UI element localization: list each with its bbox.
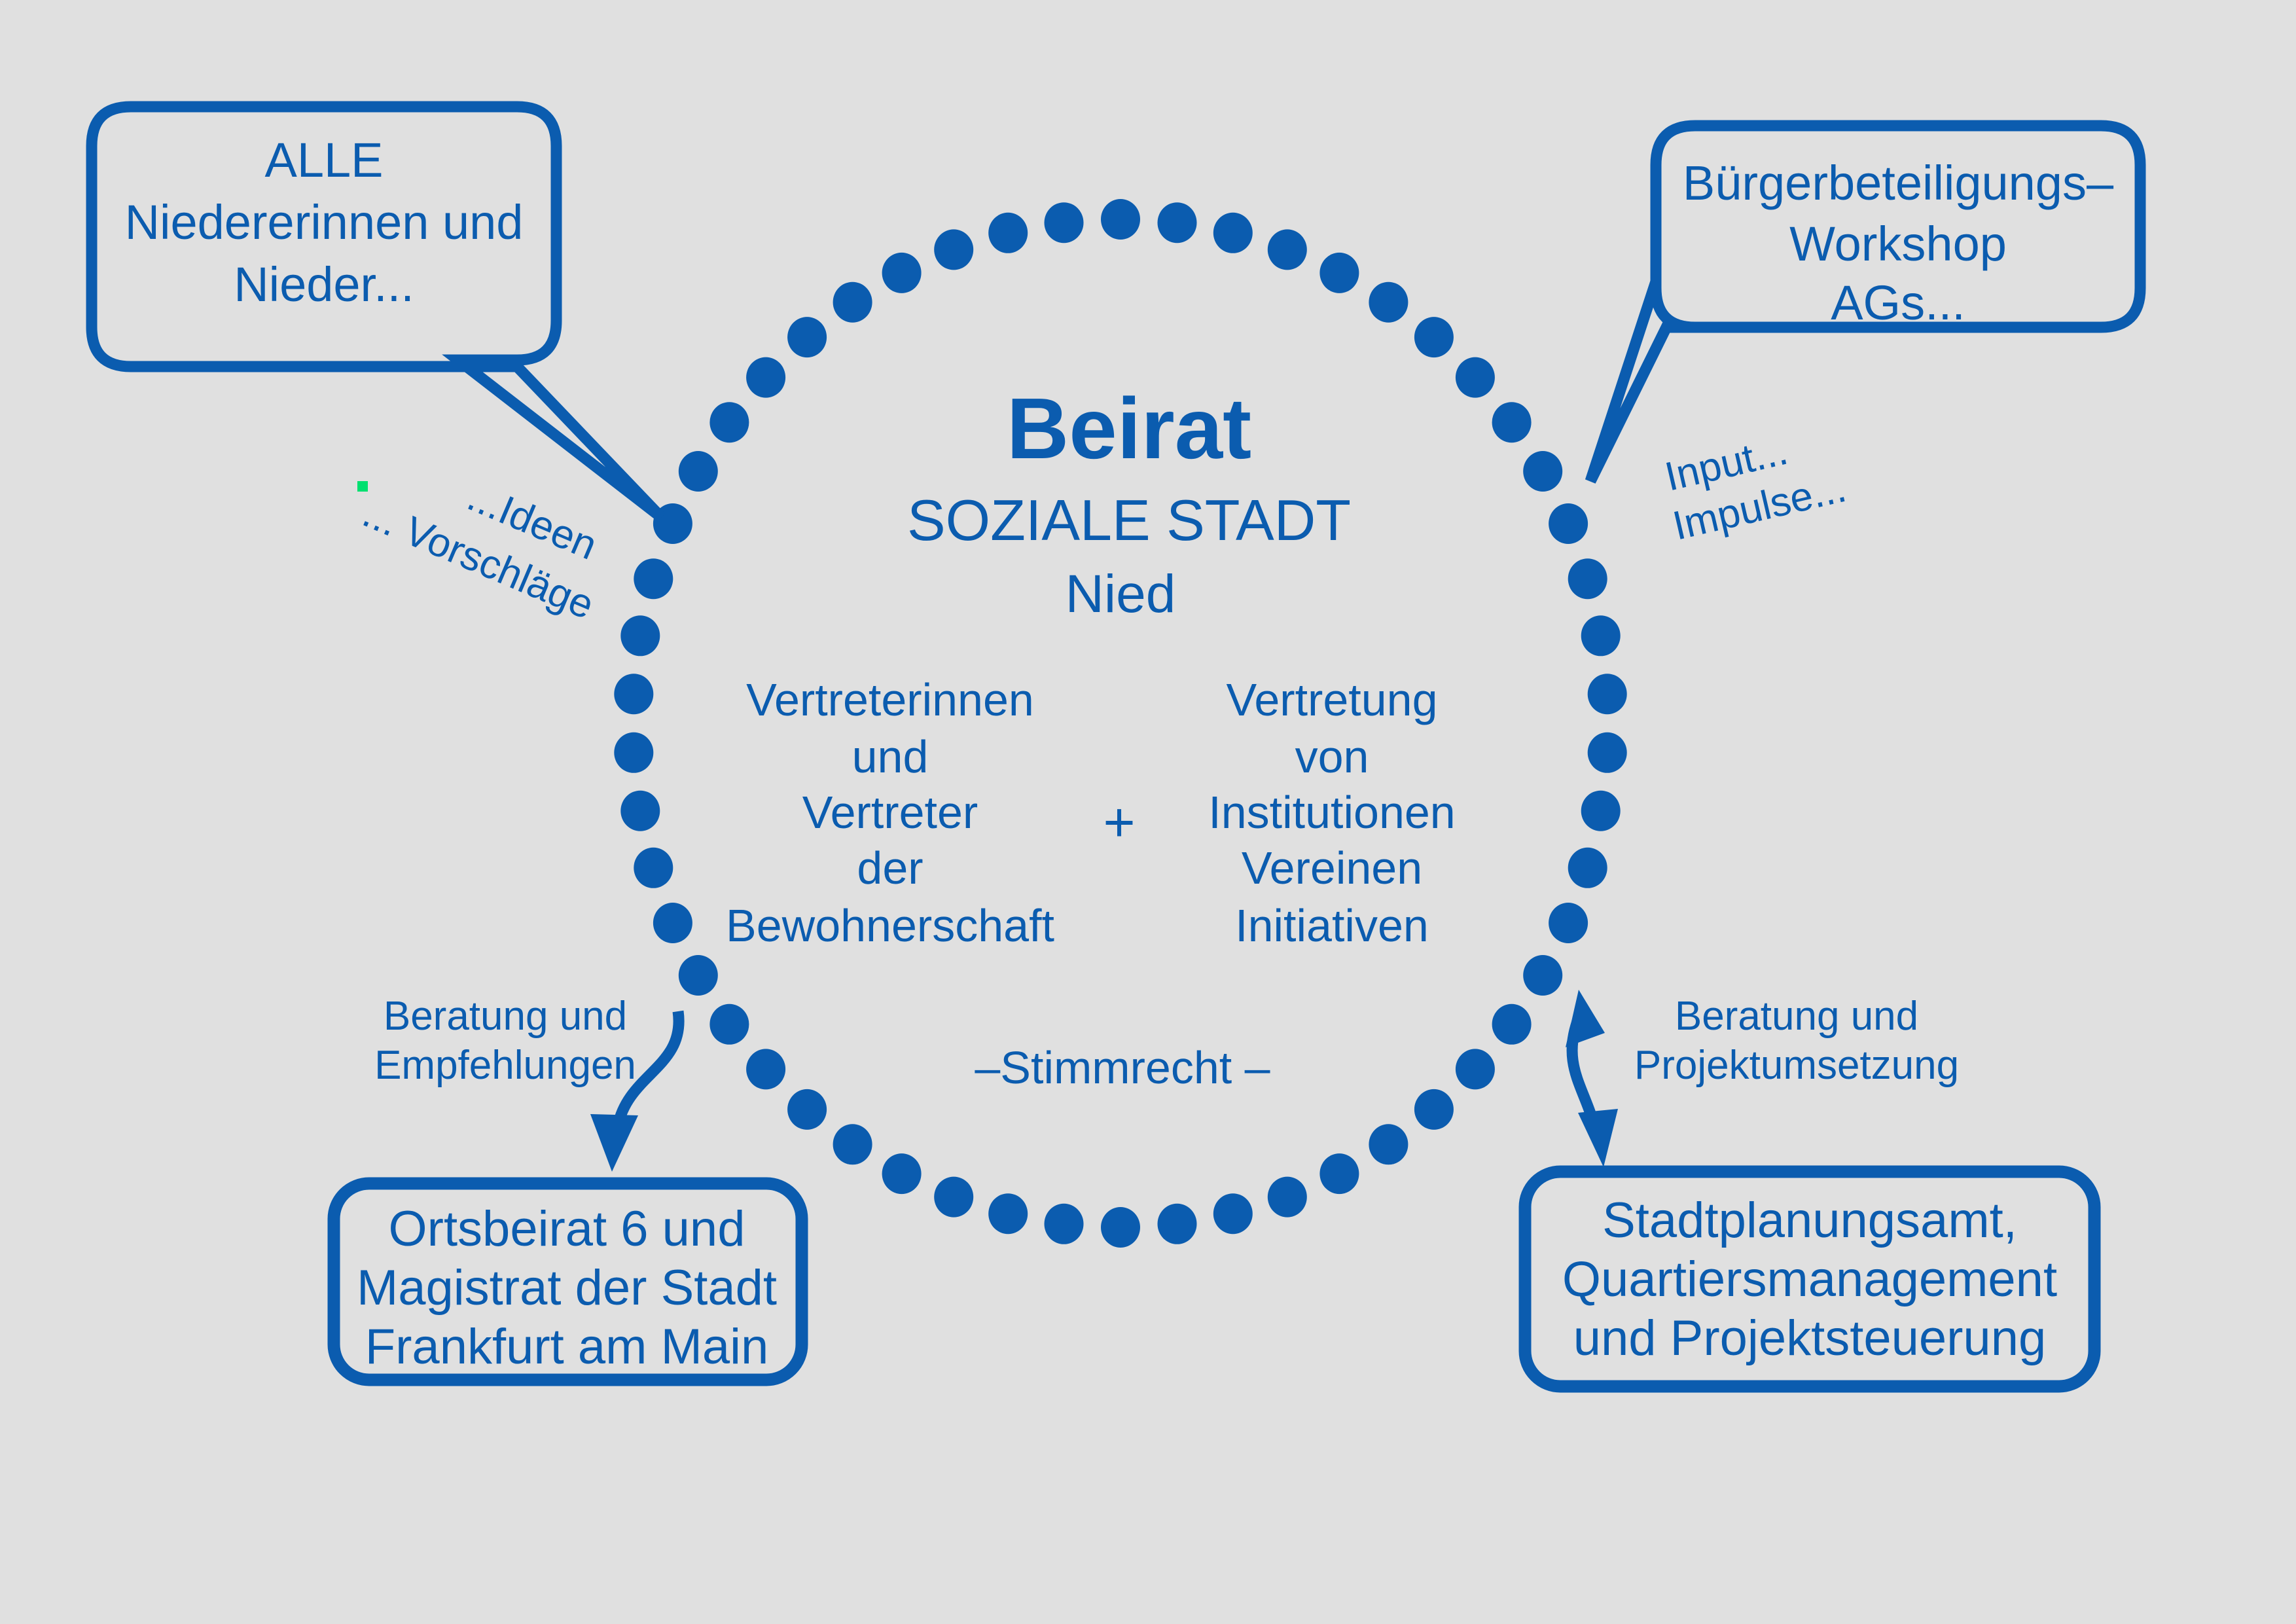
page-title: Beirat — [1007, 380, 1251, 477]
left-column-line-2: und — [852, 731, 929, 782]
box-bottom-left-line-1: Ortsbeirat 6 und — [389, 1201, 745, 1257]
bubble-top-left-line-1: ALLE — [264, 133, 383, 187]
diagram-canvas: ALLE Niedererinnen und Nieder... Bürgerb… — [0, 0, 2296, 1624]
left-column-line-5: Bewohnerschaft — [726, 900, 1054, 951]
right-column-line-2: von — [1295, 731, 1369, 782]
box-bottom-left-line-3: Frankfurt am Main — [365, 1319, 769, 1375]
stimmrecht-label: –Stimmrecht – — [975, 1042, 1270, 1093]
center-subtitle: SOZIALE STADT — [907, 488, 1351, 552]
bubble-top-left-line-2: Niedererinnen und — [125, 195, 524, 249]
left-column-line-1: Vertreterinnen — [746, 674, 1034, 725]
bubble-top-left-line-3: Nieder... — [234, 257, 414, 312]
annotation-beratung-left-2: Empfehlungen — [374, 1043, 636, 1088]
left-column-line-3: Vertreter — [802, 787, 978, 838]
right-column-line-5: Initiativen — [1235, 900, 1429, 951]
annotation-beratung-right-2: Projektumsetzung — [1634, 1043, 1959, 1088]
annotation-beratung-left-1: Beratung und — [384, 994, 627, 1039]
box-bottom-left-line-2: Magistrat der Stadt — [357, 1260, 777, 1316]
center-subtitle-2: Nied — [1066, 564, 1176, 624]
right-column-line-3: Institutionen — [1208, 787, 1455, 838]
left-column-line-4: der — [857, 842, 923, 893]
plus-operator: + — [1103, 791, 1135, 853]
box-bottom-right-line-3: und Projektsteuerung — [1573, 1310, 2046, 1366]
box-bottom-right-line-1: Stadtplanungsamt, — [1602, 1193, 2017, 1248]
bubble-top-right-line-1: Bürgerbeteiligungs– — [1683, 156, 2114, 210]
right-column-line-1: Vertretung — [1227, 674, 1438, 725]
bubble-top-right-line-2: Workshop — [1789, 217, 2007, 271]
right-column-line-4: Vereinen — [1242, 842, 1422, 893]
bubble-top-right-line-3: AGs... — [1831, 276, 1965, 330]
annotation-beratung-right-1: Beratung und — [1675, 994, 1918, 1039]
box-bottom-right-line-2: Quartiersmanagement — [1562, 1252, 2057, 1307]
